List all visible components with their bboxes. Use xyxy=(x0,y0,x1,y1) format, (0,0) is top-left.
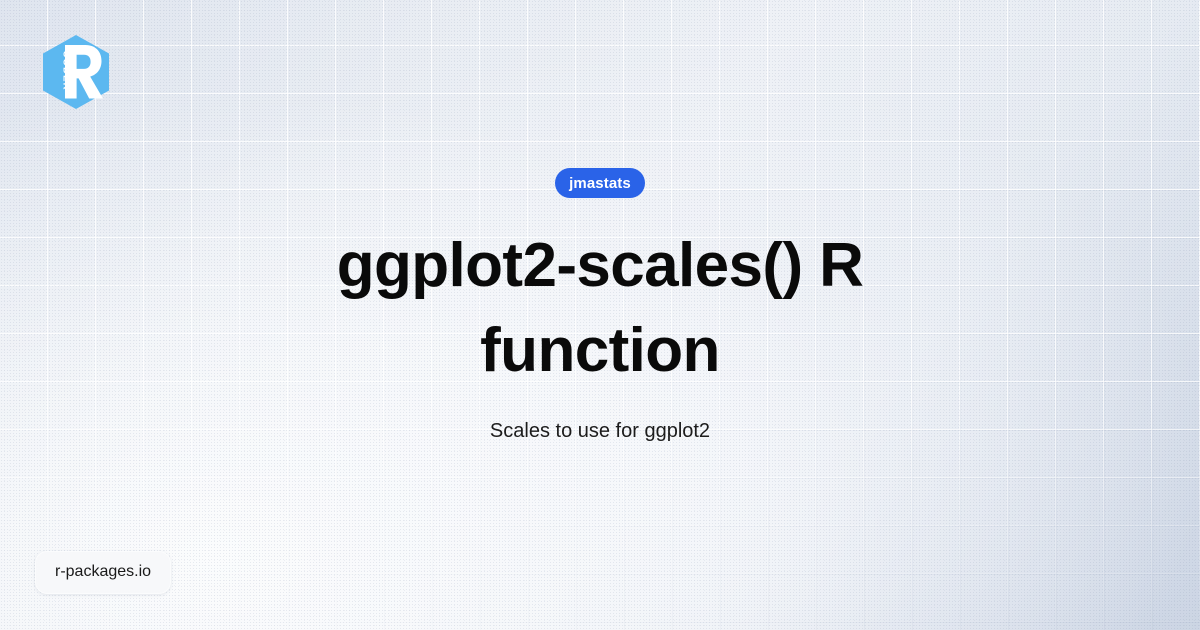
page-title: ggplot2-scales() R function xyxy=(290,224,910,393)
site-badge[interactable]: r-packages.io xyxy=(35,551,171,594)
hero-content: jmastats ggplot2-scales() R function Sca… xyxy=(0,0,1200,630)
page-subtitle: Scales to use for ggplot2 xyxy=(490,418,710,444)
package-badge[interactable]: jmastats xyxy=(555,168,645,198)
